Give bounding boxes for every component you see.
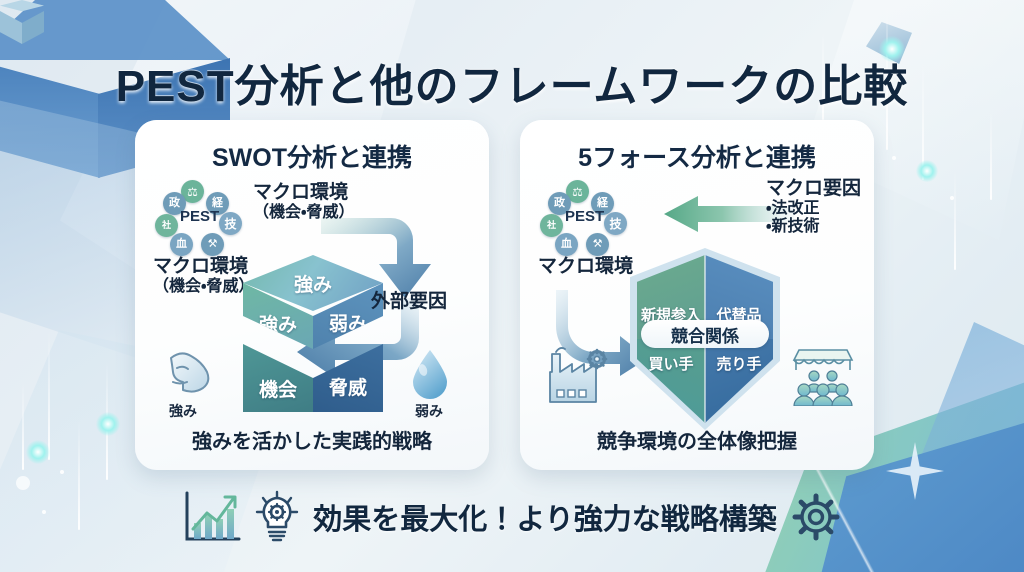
lightbulb-gear-icon — [255, 490, 299, 544]
pest-cluster-right: ⚖ 政 経 社 技 血 ⚒ PEST — [548, 180, 634, 256]
factory-gear-icon — [544, 346, 608, 404]
shield-buyers: 買い手 — [637, 339, 705, 423]
pest-circle-technology-icon: 技 — [604, 212, 627, 235]
strength-icon-label: 強み — [169, 401, 197, 421]
panel-five-forces: 5フォース分析と連携 ⚖ 政 経 社 技 血 ⚒ PEST マクロ環境 — [520, 120, 874, 470]
macro-environment-right: マクロ環境 — [538, 256, 633, 278]
pest-circle-tools-icon: ⚒ — [586, 233, 609, 256]
panel-five-forces-caption: 競争環境の全体像把握 — [520, 425, 874, 454]
weakness-icon-label: 弱み — [415, 401, 443, 421]
pest-circle-government-icon: 血 — [555, 233, 578, 256]
muscle-arm-icon — [163, 346, 215, 398]
panel-swot: SWOT分析と連携 ⚖ 政 経 社 技 血 ⚒ PEST マクロ環境 （機会・脅… — [135, 120, 489, 470]
swot-cube: 強み 強み 弱み 機会 脅威 — [243, 255, 383, 415]
shield-suppliers: 売り手 — [705, 339, 773, 423]
swot-face-threat: 脅威 — [313, 344, 383, 412]
infographic-stage: PEST分析と他のフレームワークの比較 SWOT分析と連携 ⚖ 政 経 社 技 … — [0, 0, 1024, 572]
panel-swot-title: SWOT分析と連携 — [135, 138, 489, 174]
footer-banner: 効果を最大化！より強力な戦略構築 — [0, 490, 1024, 544]
gear-icon — [791, 492, 841, 542]
macro-factor-block: マクロ要因 ・法改正 ・新技術 — [766, 178, 861, 237]
market-customers-icon — [790, 348, 856, 406]
pest-cluster-left: ⚖ 政 経 社 技 血 ⚒ PEST — [163, 180, 249, 256]
pest-circle-tools-icon: ⚒ — [201, 233, 224, 256]
macro-environment-left: マクロ環境 （機会・脅威） — [153, 256, 254, 296]
shield-center-rivalry: 競合関係 — [641, 320, 769, 348]
pest-label-left: PEST — [180, 208, 219, 225]
pest-circle-technology-icon: 技 — [219, 212, 242, 235]
page-title: PEST分析と他のフレームワークの比較 — [0, 50, 1024, 114]
footer-text: 効果を最大化！より強力な戦略構築 — [313, 496, 776, 538]
pest-circle-society-icon: 社 — [155, 214, 178, 237]
pest-circle-society-icon: 社 — [540, 214, 563, 237]
panel-swot-caption: 強みを活かした実践的戦略 — [135, 425, 489, 454]
bar-chart-growth-icon — [183, 491, 241, 543]
pest-circle-government-icon: 血 — [170, 233, 193, 256]
external-factor-label: 外部要因 — [371, 286, 447, 313]
pest-label-right: PEST — [565, 208, 604, 225]
water-drop-icon — [409, 348, 451, 400]
swot-face-opportunity: 機会 — [243, 344, 313, 412]
panel-five-forces-title: 5フォース分析と連携 — [520, 138, 874, 174]
five-forces-shield: 新規参入 代替品 買い手 売り手 競合関係 — [630, 248, 780, 430]
